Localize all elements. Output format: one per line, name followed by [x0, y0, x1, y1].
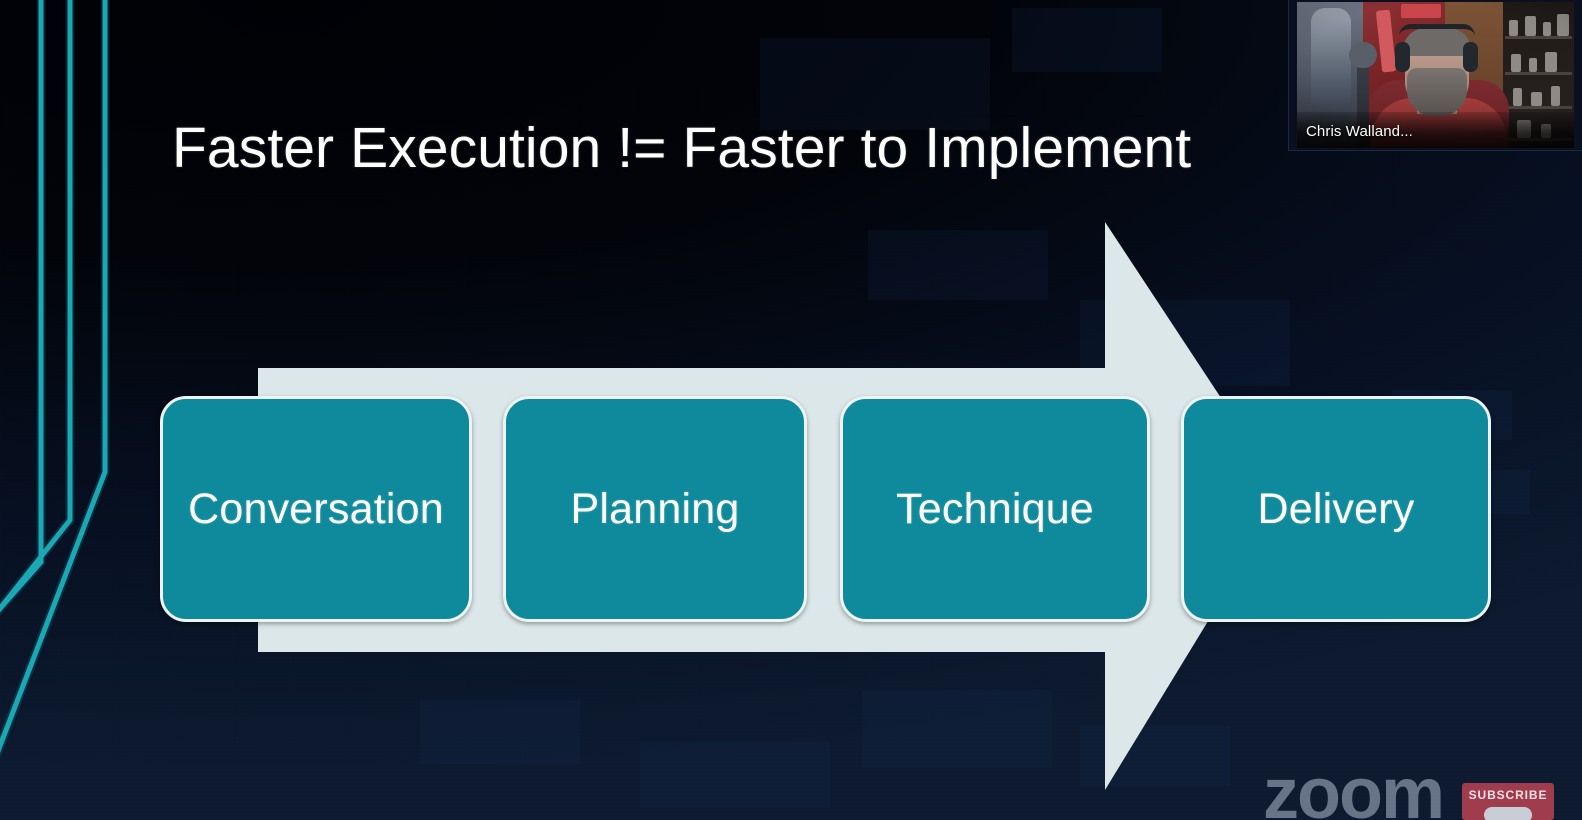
process-step-label: Delivery: [1258, 485, 1415, 534]
process-step-technique[interactable]: Technique: [840, 396, 1150, 622]
process-step-label: Planning: [571, 485, 740, 534]
participant-video-tile[interactable]: Chris Walland...: [1288, 0, 1582, 151]
participant-name: Chris Walland...: [1306, 123, 1413, 140]
process-step-label: Technique: [896, 485, 1094, 534]
process-step-label: Conversation: [188, 485, 444, 534]
process-step-delivery[interactable]: Delivery: [1181, 396, 1491, 622]
subscribe-button[interactable]: SUBSCRIBE: [1462, 783, 1554, 820]
process-step-planning[interactable]: Planning: [503, 396, 807, 622]
zoom-watermark-logo: zoom: [1263, 758, 1443, 820]
subscribe-bell-pill: [1484, 807, 1532, 820]
participant-video-frame: Chris Walland...: [1297, 2, 1574, 148]
subscribe-label: SUBSCRIBE: [1462, 788, 1554, 802]
screen-root: Faster Execution != Faster to Implement …: [0, 0, 1582, 820]
process-step-conversation[interactable]: Conversation: [160, 396, 472, 622]
